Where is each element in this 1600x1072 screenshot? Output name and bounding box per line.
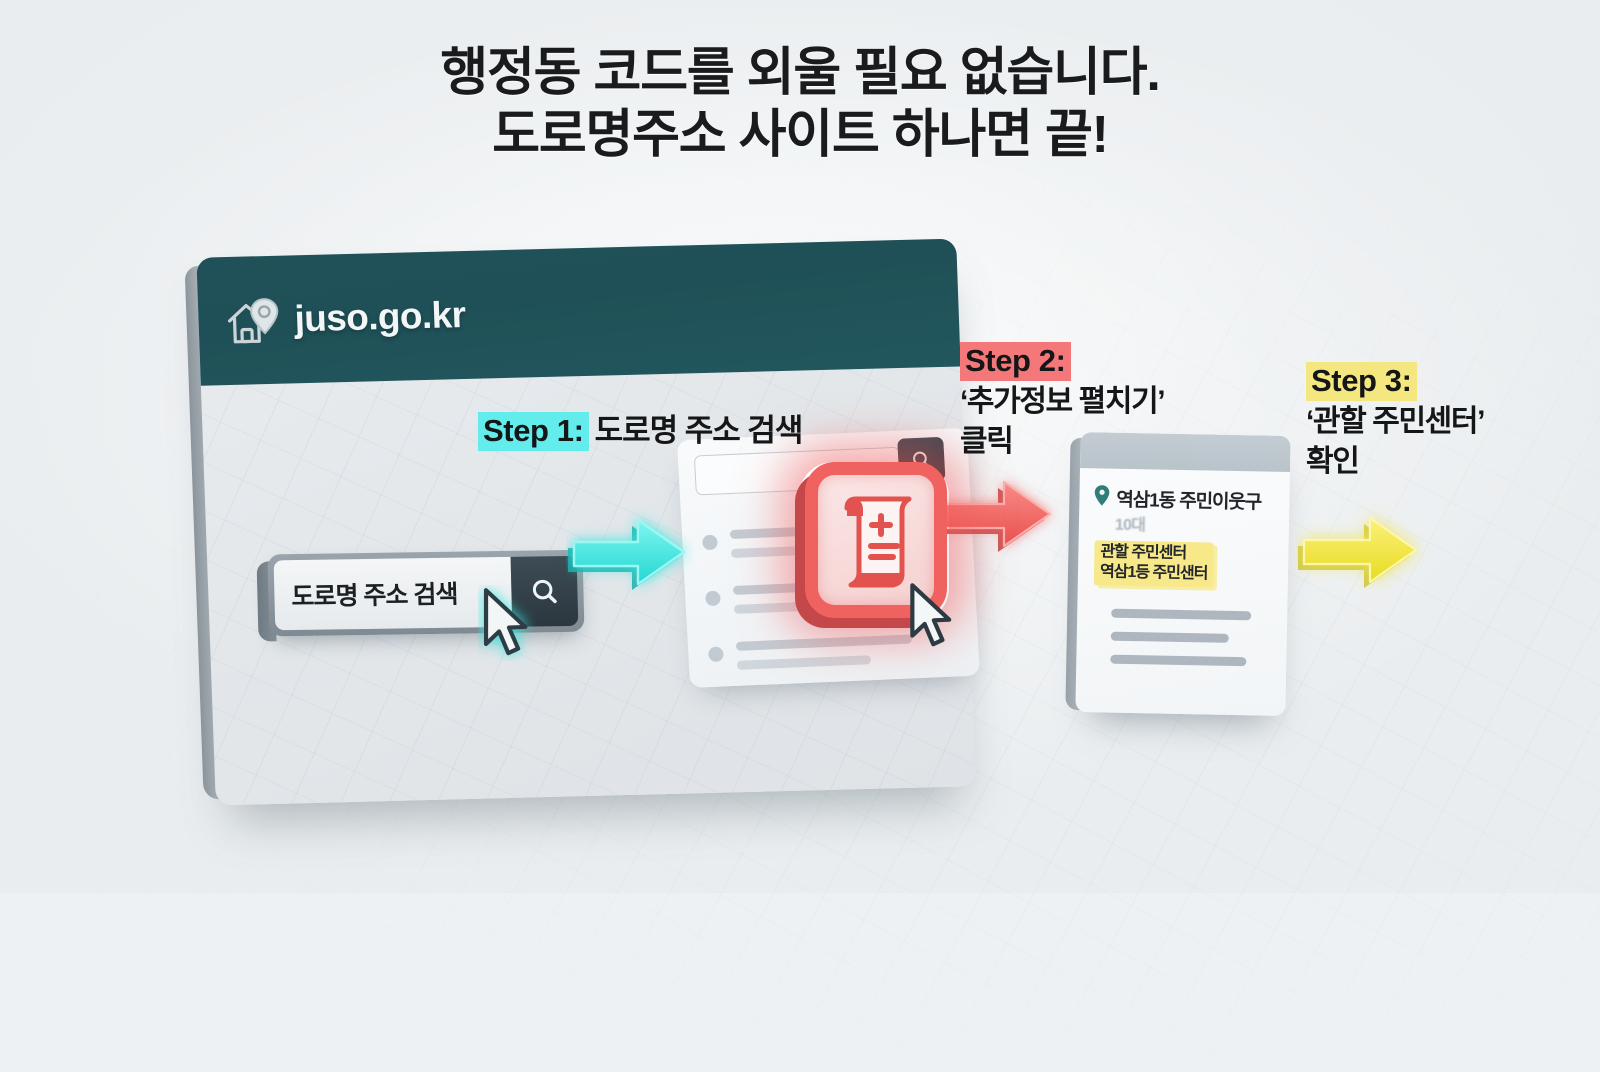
step-3-chip: Step 3: — [1306, 362, 1417, 401]
cursor-pointer-doc — [905, 580, 959, 657]
page-title: 행정동 코드를 외울 필요 없습니다. 도로명주소 사이트 하나면 끝! — [0, 42, 1600, 166]
step-3-label: Step 3: ‘관할 주민센터’ 확인 — [1306, 362, 1484, 481]
highlight-line-2: 역삼1등 주민샌터 — [1100, 562, 1208, 584]
document-sheet-icon — [835, 494, 919, 590]
step-3-sub-line-2: 확인 — [1306, 443, 1484, 481]
step-1-chip: Step 1: — [478, 412, 589, 451]
step-2-sub-line-1: ‘추가정보 펼치기’ — [960, 383, 1164, 421]
result-bullet-icon — [708, 646, 724, 662]
home-pin-icon — [224, 293, 284, 348]
address-search-box[interactable]: 도로명 주소 검색 — [267, 550, 584, 637]
search-box-frame: 도로명 주소 검색 — [267, 550, 584, 637]
step-2-chip: Step 2: — [960, 342, 1071, 381]
step-3-sub-line-1: ‘관할 주민센터’ — [1306, 403, 1484, 441]
detail-card-subtitle: 10대 — [1115, 511, 1146, 536]
page-title-line-1: 행정동 코드를 외울 필요 없습니다. — [0, 42, 1600, 104]
arrow-step3 — [1296, 498, 1426, 594]
search-input[interactable]: 도로명 주소 검색 — [274, 557, 513, 630]
step-1-tail: 도로명 주소 검색 — [589, 413, 803, 450]
step-2-label: Step 2: ‘추가정보 펼치기’ 클릭 — [960, 342, 1164, 461]
location-pin-icon — [1093, 484, 1111, 511]
cursor-pointer-search — [478, 585, 536, 666]
arrow-step1 — [566, 500, 694, 596]
page-title-line-2: 도로명주소 사이트 하나면 끝! — [0, 104, 1600, 166]
step-2-sub-line-2: 클릭 — [960, 423, 1164, 461]
browser-header-bar: juso.go.kr — [196, 239, 960, 386]
brand-url-text: juso.go.kr — [294, 294, 466, 340]
step-1-label: Step 1:도로명 주소 검색 — [478, 412, 802, 451]
highlight-line-1: 관할 주민센터 — [1100, 542, 1208, 564]
result-bullet-icon — [705, 591, 721, 607]
result-placeholder-bar — [737, 655, 871, 670]
result-bullet-icon — [702, 535, 718, 551]
detail-card-title: 역삼1동 주민이웃구 — [1116, 485, 1261, 515]
detail-card-highlight: 관할 주민센터 역삼1등 주민샌터 — [1094, 540, 1214, 587]
address-detail-card: 역삼1동 주민이웃구 10대 관할 주민센터 역삼1등 주민샌터 — [1075, 432, 1290, 716]
